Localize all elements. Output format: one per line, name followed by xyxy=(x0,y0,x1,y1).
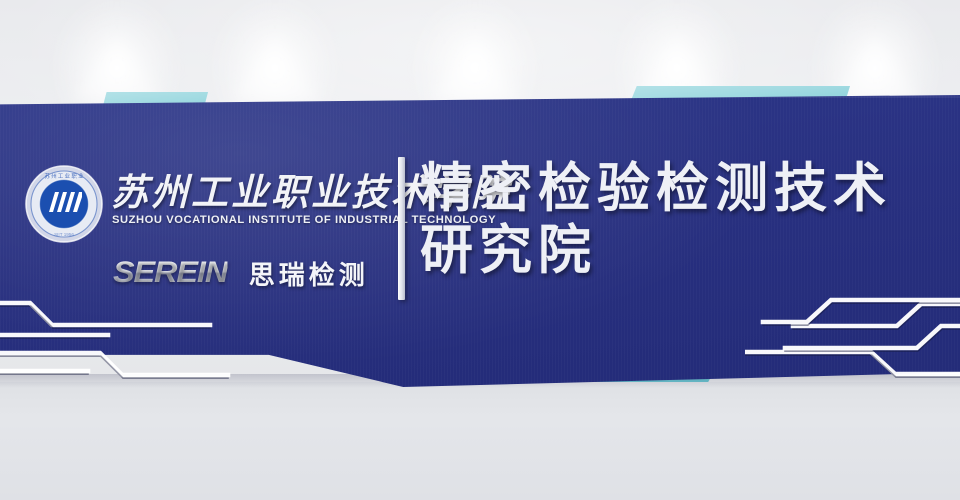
serein-chinese-name: 思瑞检测 xyxy=(249,255,369,292)
floor-surface xyxy=(0,382,960,500)
svg-text:苏 州 工 业 职 业: 苏 州 工 业 职 业 xyxy=(44,172,84,180)
vertical-divider-bar xyxy=(398,157,405,300)
suzhou-institute-crest-icon: 苏 州 工 业 职 业 SIIT 1956 xyxy=(24,164,104,244)
signage-scene: 苏 州 工 业 职 业 SIIT 1956 苏州工业职业技术学院 SUZHOU … xyxy=(0,0,960,500)
headline-line-1: 精密检验检测技术 xyxy=(420,160,892,218)
page-title: 精密检验检测技术 研究院 xyxy=(420,158,950,282)
spotlight-glow-2 xyxy=(200,0,350,116)
serein-wordmark: SEREIN xyxy=(113,256,227,290)
headline-line-2: 研究院 xyxy=(420,220,950,282)
spotlight-glow-3 xyxy=(400,0,550,116)
university-logo-block: 苏 州 工 业 职 业 SIIT 1956 苏州工业职业技术学院 SUZHOU … xyxy=(16,158,388,254)
partner-brand-row: SEREIN 思瑞检测 xyxy=(113,254,369,292)
svg-text:SIIT 1956: SIIT 1956 xyxy=(54,232,74,237)
